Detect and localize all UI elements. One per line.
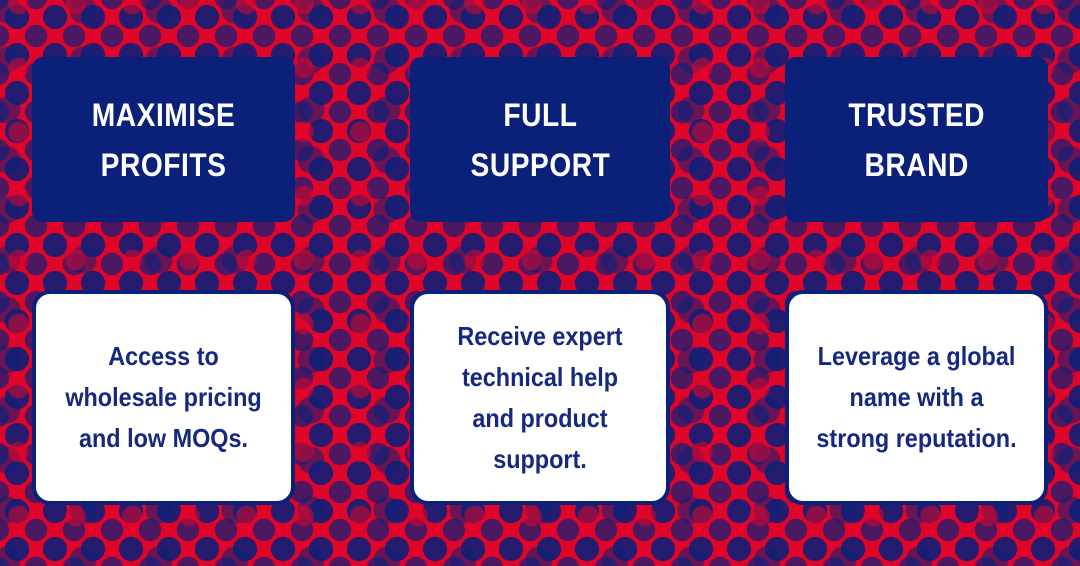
body-card-text: Leverage a global name with a strong rep…: [814, 336, 1018, 459]
body-card-text: Receive expert technical help and produc…: [439, 316, 641, 480]
body-card-maximise-profits: Access to wholesale pricing and low MOQs…: [32, 290, 295, 505]
heading-card-title: TRUSTED BRAND: [848, 90, 985, 190]
benefit-card-grid: MAXIMISE PROFITS Access to wholesale pri…: [32, 57, 1048, 505]
promo-banner: MAXIMISE PROFITS Access to wholesale pri…: [0, 0, 1080, 566]
heading-card-full-support: FULL SUPPORT: [410, 57, 670, 222]
heading-card-title: FULL SUPPORT: [470, 90, 610, 190]
body-card-trusted-brand: Leverage a global name with a strong rep…: [785, 290, 1048, 505]
heading-card-title: MAXIMISE PROFITS: [92, 90, 235, 190]
body-card-text: Access to wholesale pricing and low MOQs…: [61, 336, 265, 459]
heading-card-trusted-brand: TRUSTED BRAND: [785, 57, 1048, 222]
heading-card-maximise-profits: MAXIMISE PROFITS: [32, 57, 295, 222]
body-card-full-support: Receive expert technical help and produc…: [410, 290, 670, 505]
